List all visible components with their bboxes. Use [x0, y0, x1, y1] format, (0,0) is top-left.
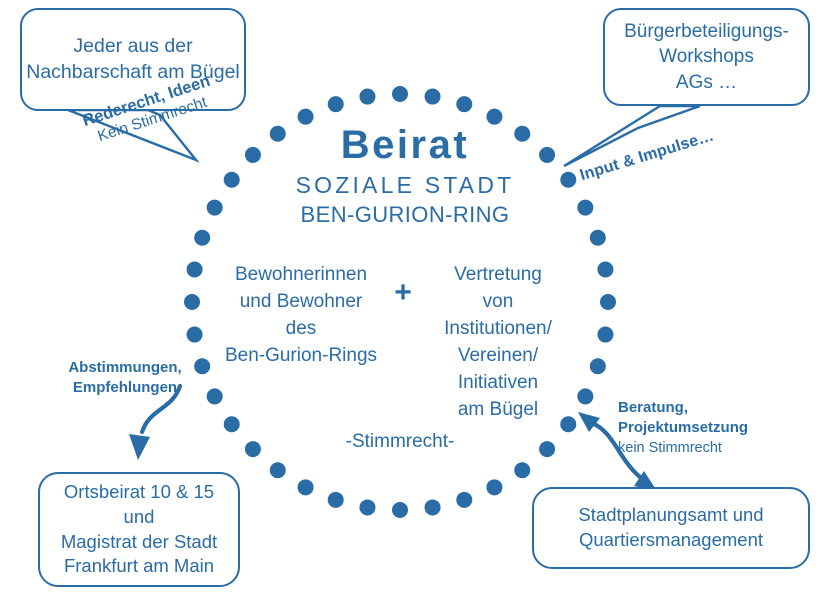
ring-dot [270, 462, 286, 478]
bubble-workshops[interactable]: Bürgerbeteiligungs-WorkshopsAGs … [603, 8, 810, 106]
ring-dot [486, 109, 502, 125]
box-stadtplanung[interactable]: Stadtplanungsamt undQuartiersmanagement [532, 487, 810, 569]
center-column-institutions: VertretungvonInstitutionen/Vereinen/Init… [423, 262, 573, 424]
center-column-institutions-text: VertretungvonInstitutionen/Vereinen/Init… [444, 264, 552, 420]
center-column-residents-text: Bewohnerinnenund BewohnerdesBen-Gurion-R… [225, 264, 377, 366]
center-footer-stimmrecht: -Stimmrecht- [300, 430, 500, 454]
ring-dot [359, 499, 375, 515]
ring-dot [577, 200, 593, 216]
ring-dot [298, 109, 314, 125]
ring-dot [590, 358, 606, 374]
box-stadtplanung-text: Stadtplanungsamt undQuartiersmanagement [578, 503, 763, 553]
label-beratung-bold: Beratung,Projektumsetzung [618, 398, 808, 439]
ring-dot [597, 261, 613, 277]
label-beratung-regular: kein Stimmrecht [618, 439, 808, 459]
center-subtitle-2: BEN-GURION-RING [240, 201, 570, 230]
label-abstimmungen: Abstimmungen,Empfehlungen [40, 358, 210, 399]
ring-dot [590, 230, 606, 246]
bubble-workshops-text: Bürgerbeteiligungs-WorkshopsAGs … [624, 19, 789, 94]
ring-dot [425, 499, 441, 515]
bubble-neighbourhood-text: Jeder aus der Nachbarschaft am Bügel [22, 34, 244, 85]
ring-dot [539, 441, 555, 457]
diagram-canvas: Jeder aus der Nachbarschaft am Bügel Bür… [0, 0, 820, 600]
ring-dot [486, 479, 502, 495]
label-beratung: Beratung,Projektumsetzung kein Stimmrech… [618, 398, 808, 458]
ring-dot [359, 89, 375, 105]
box-ortsbeirat[interactable]: Ortsbeirat 10 & 15undMagistrat der Stadt… [38, 472, 240, 587]
label-abstimmungen-text: Abstimmungen,Empfehlungen [68, 359, 181, 396]
ring-dot [194, 230, 210, 246]
center-footer-stimmrecht-text: -Stimmrecht- [346, 431, 455, 452]
ring-dot [577, 388, 593, 404]
ring-dot [298, 479, 314, 495]
ring-dot [224, 172, 240, 188]
ring-dot [514, 462, 530, 478]
ring-dot [187, 327, 203, 343]
ring-dot [328, 96, 344, 112]
plus-icon-glyph: + [394, 276, 412, 309]
center-subtitle: SOZIALE STADT [240, 170, 570, 201]
ring-dot [328, 492, 344, 508]
ring-dot [392, 502, 408, 518]
ring-dot [456, 492, 472, 508]
ring-dot [207, 200, 223, 216]
plus-icon: + [388, 278, 418, 308]
arrowhead-beratung-up [578, 412, 600, 432]
center-column-residents: Bewohnerinnenund BewohnerdesBen-Gurion-R… [205, 262, 397, 370]
ring-dot [245, 441, 261, 457]
ring-dot [456, 96, 472, 112]
ring-dot [597, 327, 613, 343]
ring-dot [184, 294, 200, 310]
ring-dot [224, 416, 240, 432]
box-ortsbeirat-text: Ortsbeirat 10 & 15undMagistrat der Stadt… [61, 480, 217, 580]
ring-dot [425, 89, 441, 105]
center-title-block: Beirat SOZIALE STADT BEN-GURION-RING [240, 124, 570, 230]
arrowhead-abstimmungen [129, 434, 150, 460]
ring-dot [600, 294, 616, 310]
ring-dot [392, 86, 408, 102]
ring-dot [187, 261, 203, 277]
page-title: Beirat [240, 124, 570, 166]
